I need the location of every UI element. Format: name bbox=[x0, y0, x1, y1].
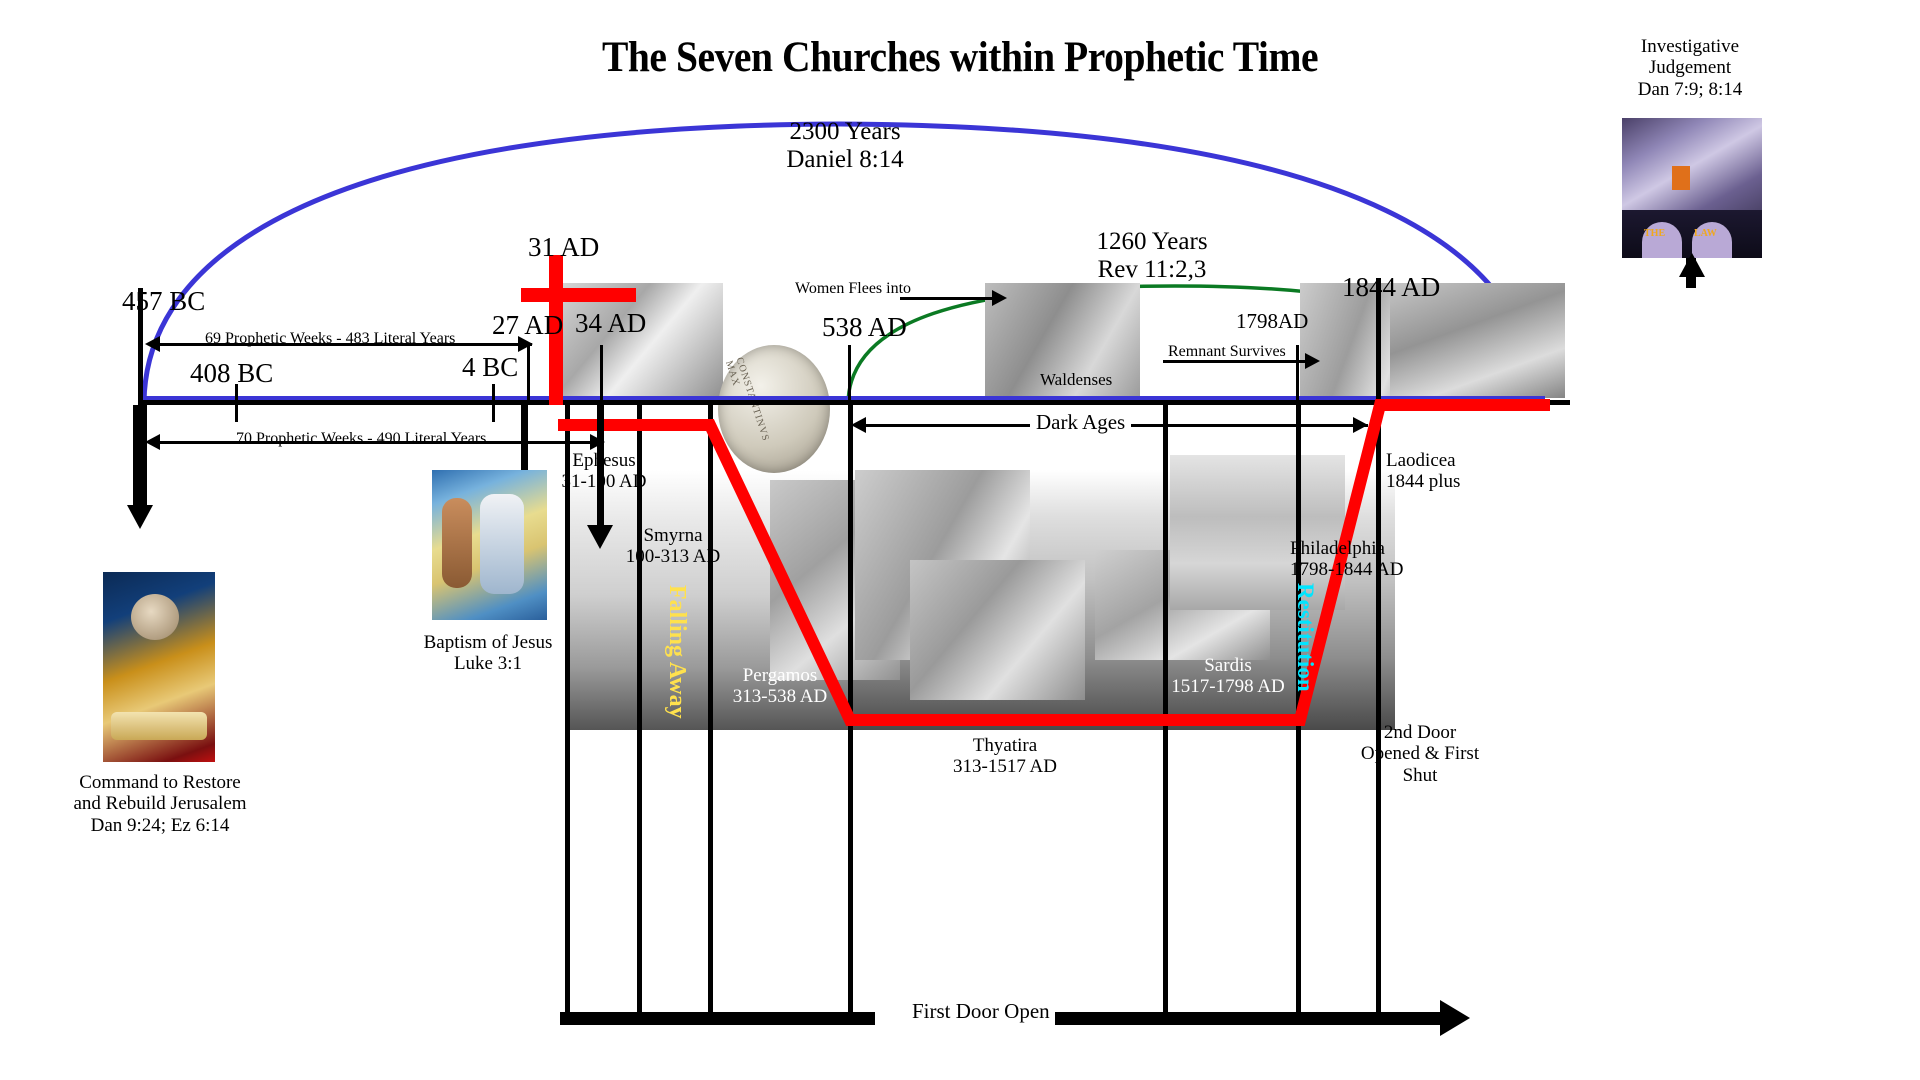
first-door-open-bar-left bbox=[560, 1012, 875, 1025]
command-to-restore-caption: Command to Restore and Rebuild Jerusalem… bbox=[73, 772, 246, 836]
date-457bc: 457 BC bbox=[122, 286, 205, 316]
church-label-laodicea: Laodicea 1844 plus bbox=[1386, 450, 1460, 493]
date-1844ad: 1844 AD bbox=[1342, 272, 1440, 302]
second-door-label: 2nd Door Opened & First Shut bbox=[1361, 722, 1479, 786]
women-flees-arrow-line bbox=[900, 297, 995, 300]
weeks-69-label: 69 Prophetic Weeks - 483 Literal Years bbox=[205, 330, 455, 348]
baptism-of-jesus-image bbox=[432, 470, 547, 620]
arrow-457bc-down-shaft bbox=[133, 405, 147, 510]
church-label-smyrna: Smyrna 100-313 AD bbox=[626, 525, 720, 568]
date-408bc: 408 BC bbox=[190, 358, 273, 388]
cross-horizontal-31ad bbox=[521, 288, 636, 302]
weeks-69-arrow-left bbox=[145, 336, 160, 352]
scribe-writing-scroll-image bbox=[103, 572, 215, 762]
the-law-text-right: LAW bbox=[1694, 228, 1717, 239]
label-1260-years: 1260 Years Rev 11:2,3 bbox=[1096, 228, 1207, 284]
arrow-457bc-down-head bbox=[127, 505, 153, 529]
church-label-ephesus: Ephesus 31-100 AD bbox=[562, 450, 647, 493]
page-title: The Seven Churches within Prophetic Time bbox=[602, 34, 1318, 82]
women-flees-into-label: Women Flees into bbox=[795, 280, 911, 298]
remnant-arrow-line bbox=[1163, 360, 1309, 363]
baptism-of-jesus-caption: Baptism of Jesus Luke 3:1 bbox=[424, 632, 553, 675]
weeks-70-label: 70 Prophetic Weeks - 490 Literal Years bbox=[236, 430, 486, 448]
investigative-judgement-label: Investigative Judgement Dan 7:9; 8:14 bbox=[1638, 36, 1743, 100]
dark-ages-label: Dark Ages bbox=[1030, 411, 1131, 435]
church-label-philadelphia: Philadelphia 1798-1844 AD bbox=[1290, 538, 1403, 581]
date-27ad: 27 AD bbox=[492, 310, 563, 340]
tick-4bc bbox=[492, 384, 495, 422]
waldenses-label: Waldenses bbox=[1040, 370, 1112, 389]
arrow-34ad-down-head bbox=[587, 525, 613, 549]
arrow-1844ad-down-head bbox=[1679, 253, 1705, 277]
prophetic-timeline-diagram: The Seven Churches within Prophetic Time… bbox=[0, 0, 1920, 1080]
church-label-pergamos: Pergamos 313-538 AD bbox=[733, 665, 827, 708]
date-4bc: 4 BC bbox=[462, 352, 518, 382]
the-law-text-left: THE bbox=[1644, 228, 1665, 239]
tick-408bc bbox=[235, 384, 238, 422]
weeks-70-arrow-left bbox=[145, 434, 160, 450]
restitution-label: Restitution bbox=[1292, 583, 1318, 692]
investigative-judgement-the-law-image: THE LAW bbox=[1622, 118, 1762, 258]
date-34ad: 34 AD bbox=[575, 308, 646, 338]
date-31ad: 31 AD bbox=[528, 232, 599, 262]
church-label-thyatira: Thyatira 313-1517 AD bbox=[953, 735, 1057, 778]
remnant-arrow-head bbox=[1305, 353, 1320, 369]
tick-27ad bbox=[527, 345, 530, 403]
date-1798ad: 1798AD bbox=[1236, 310, 1308, 334]
first-door-open-arrow-head bbox=[1440, 1000, 1470, 1036]
dark-ages-arrow-right bbox=[1353, 417, 1368, 433]
church-label-sardis: Sardis 1517-1798 AD bbox=[1171, 655, 1284, 698]
first-door-open-bar-right bbox=[1055, 1012, 1445, 1025]
first-door-open-label: First Door Open bbox=[912, 1000, 1050, 1024]
women-flees-arrow-head bbox=[992, 290, 1007, 306]
dark-ages-arrow-left bbox=[851, 417, 866, 433]
falling-away-label: Falling Away bbox=[663, 585, 690, 719]
label-2300-years: 2300 Years Daniel 8:14 bbox=[786, 118, 903, 174]
remnant-survives-label: Remnant Survives bbox=[1168, 343, 1286, 361]
date-538ad: 538 AD bbox=[822, 312, 907, 342]
